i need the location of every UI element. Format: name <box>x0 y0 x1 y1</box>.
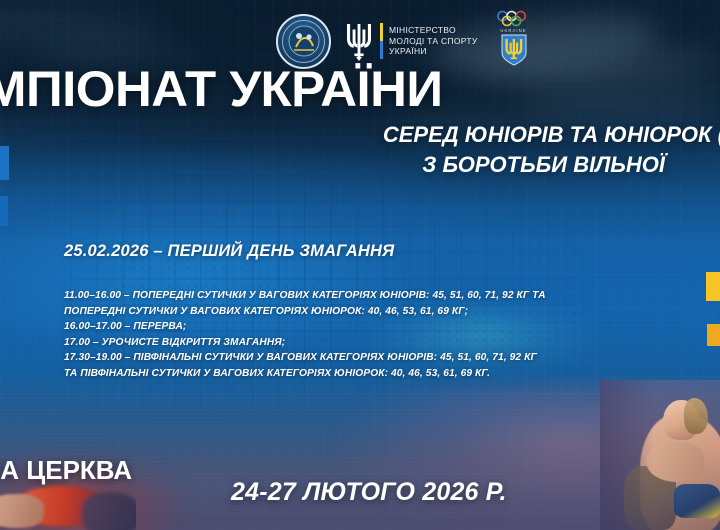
wrestler-photo-right <box>600 380 720 530</box>
schedule-line: 17.00 – УРОЧИСТЕ ВІДКРИТТЯ ЗМАГАННЯ; <box>64 335 684 351</box>
left-edge-blue-marker <box>0 196 8 226</box>
subtitle-line-1: СЕРЕД ЮНІОРІВ ТА ЮНІОРОК ( <box>383 122 720 147</box>
ministry-flag-bar <box>380 23 383 59</box>
page-title: МПІОНАТ УКРАЇНИ <box>0 64 443 114</box>
right-edge-yellow-marker <box>706 272 720 301</box>
event-dates: 24-27 ЛЮТОГО 2026 Р. <box>231 478 507 507</box>
ministry-logo: МІНІСТЕРСТВО МОЛОДІ ТА СПОРТУ УКРАЇНИ <box>344 20 478 62</box>
olympic-country-label: UKRAINE <box>500 28 526 33</box>
ministry-logo-text: МІНІСТЕРСТВО МОЛОДІ ТА СПОРТУ УКРАЇНИ <box>389 25 478 57</box>
federation-logo-ring <box>282 20 325 63</box>
wrestler-left-shadow <box>82 492 136 530</box>
ukraine-shield-icon <box>501 34 527 66</box>
olympic-committee-logo: UKRAINE <box>491 10 537 72</box>
venue-city: ЛА ЦЕРКВА <box>0 455 132 486</box>
competition-day-heading: 25.02.2026 – ПЕРШИЙ ДЕНЬ ЗМАГАННЯ <box>64 242 394 261</box>
schedule-line: 11.00–16.00 – ПОПЕРЕДНІ СУТИЧКИ У ВАГОВИ… <box>64 288 684 304</box>
right-edge-orange-marker <box>707 324 720 346</box>
ministry-text-line-1: МІНІСТЕРСТВО <box>389 25 478 36</box>
schedule-line: 16.00–17.00 – ПЕРЕРВА; <box>64 319 684 335</box>
poster-canvas: МІНІСТЕРСТВО МОЛОДІ ТА СПОРТУ УКРАЇНИ UK… <box>0 0 720 530</box>
poster-subtitle: СЕРЕД ЮНІОРІВ ТА ЮНІОРОК ( З БОРОТЬБИ ВІ… <box>0 120 720 180</box>
wrestler-left-limb <box>0 494 44 528</box>
ministry-text-line-2: МОЛОДІ ТА СПОРТУ <box>389 36 478 47</box>
subtitle-line-2: З БОРОТЬБИ ВІЛЬНОЇ <box>0 150 720 180</box>
olympic-rings-icon <box>495 10 533 27</box>
ministry-text-line-3: УКРАЇНИ <box>389 46 478 57</box>
wrestler-photo-shade <box>600 380 720 530</box>
schedule-line: 17.30–19.00 – ПІВФІНАЛЬНІ СУТИЧКИ У ВАГО… <box>64 350 684 366</box>
schedule-line: ТА ПІВФІНАЛЬНІ СУТИЧКИ У ВАГОВИХ КАТЕГОР… <box>64 366 684 382</box>
schedule-line: ПОПЕРЕДНІ СУТИЧКИ У ВАГОВИХ КАТЕГОРІЯХ Ю… <box>64 304 684 320</box>
trident-icon <box>344 20 374 62</box>
schedule-list: 11.00–16.00 – ПОПЕРЕДНІ СУТИЧКИ У ВАГОВИ… <box>64 288 684 382</box>
